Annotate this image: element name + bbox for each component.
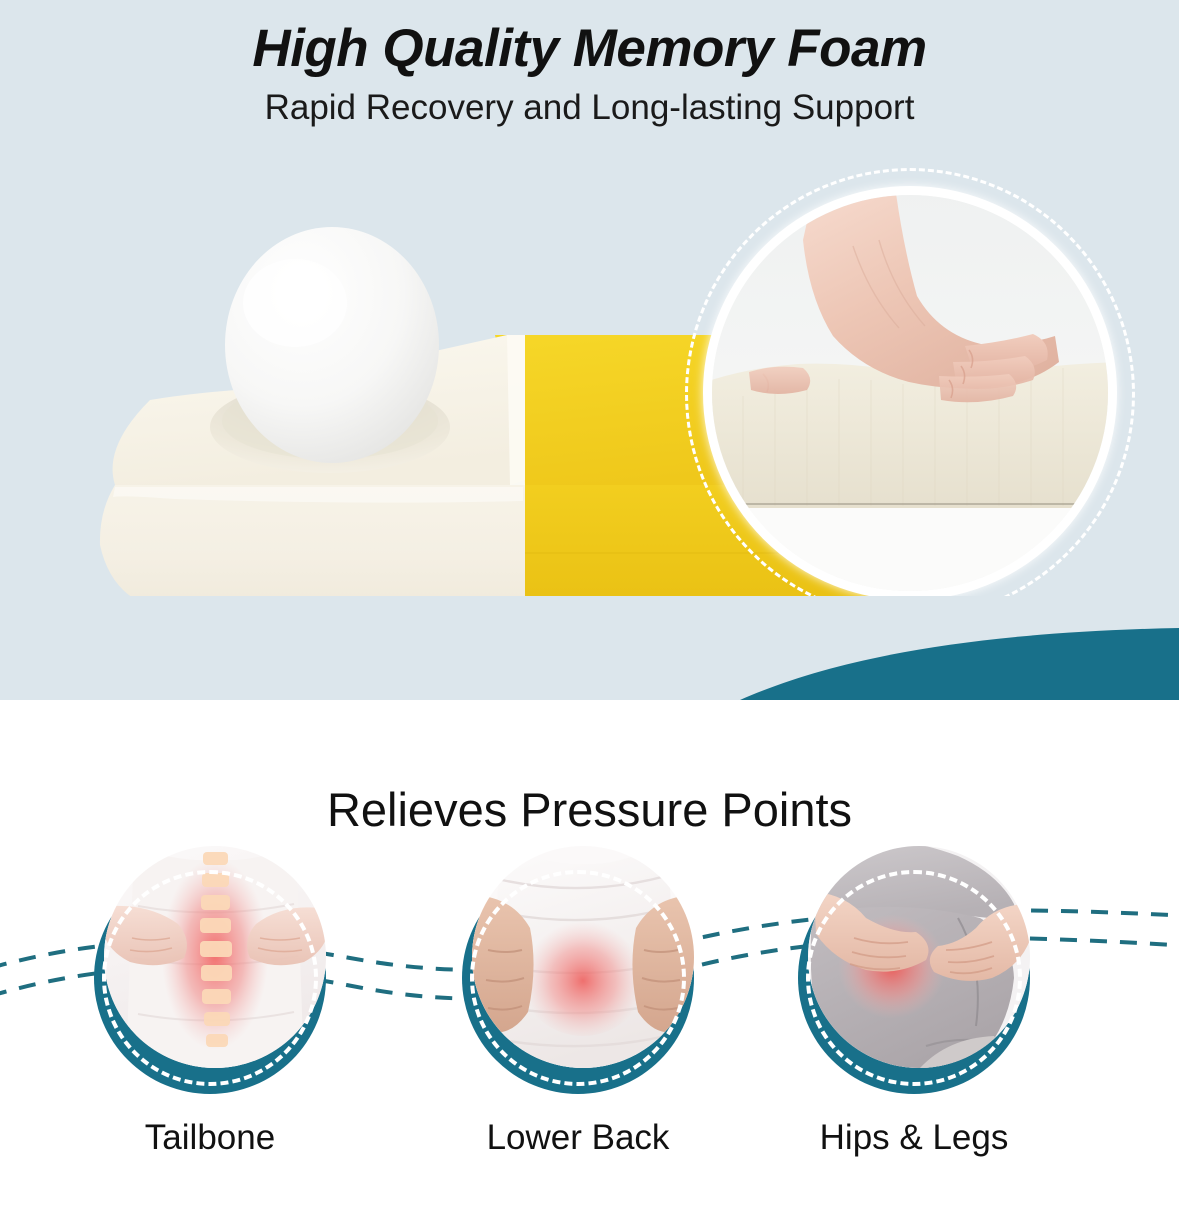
pressure-point-item[interactable]: Lower Back [462, 846, 694, 1078]
pressure-point-item[interactable]: Hips & Legs [798, 846, 1030, 1078]
pressure-point-label: Tailbone [64, 1118, 356, 1158]
white-dashed-ring [806, 870, 1022, 1086]
pressure-point-item[interactable]: Tailbone [94, 846, 326, 1078]
pressure-point-label: Lower Back [432, 1118, 724, 1158]
white-dashed-ring [102, 870, 318, 1086]
zoom-inset [685, 168, 1135, 620]
hero-panel: High Quality Memory Foam Rapid Recovery … [0, 0, 1179, 700]
hand-pressing-foam-image [703, 186, 1117, 600]
pressure-points-panel: Relieves Pressure Points [0, 700, 1179, 1223]
white-dashed-ring [470, 870, 686, 1086]
inset-circle [703, 186, 1117, 600]
section-title: Relieves Pressure Points [0, 782, 1179, 837]
page-subtitle: Rapid Recovery and Long-lasting Support [0, 88, 1179, 128]
pressure-point-label: Hips & Legs [768, 1118, 1060, 1158]
page-title: High Quality Memory Foam [0, 18, 1179, 79]
